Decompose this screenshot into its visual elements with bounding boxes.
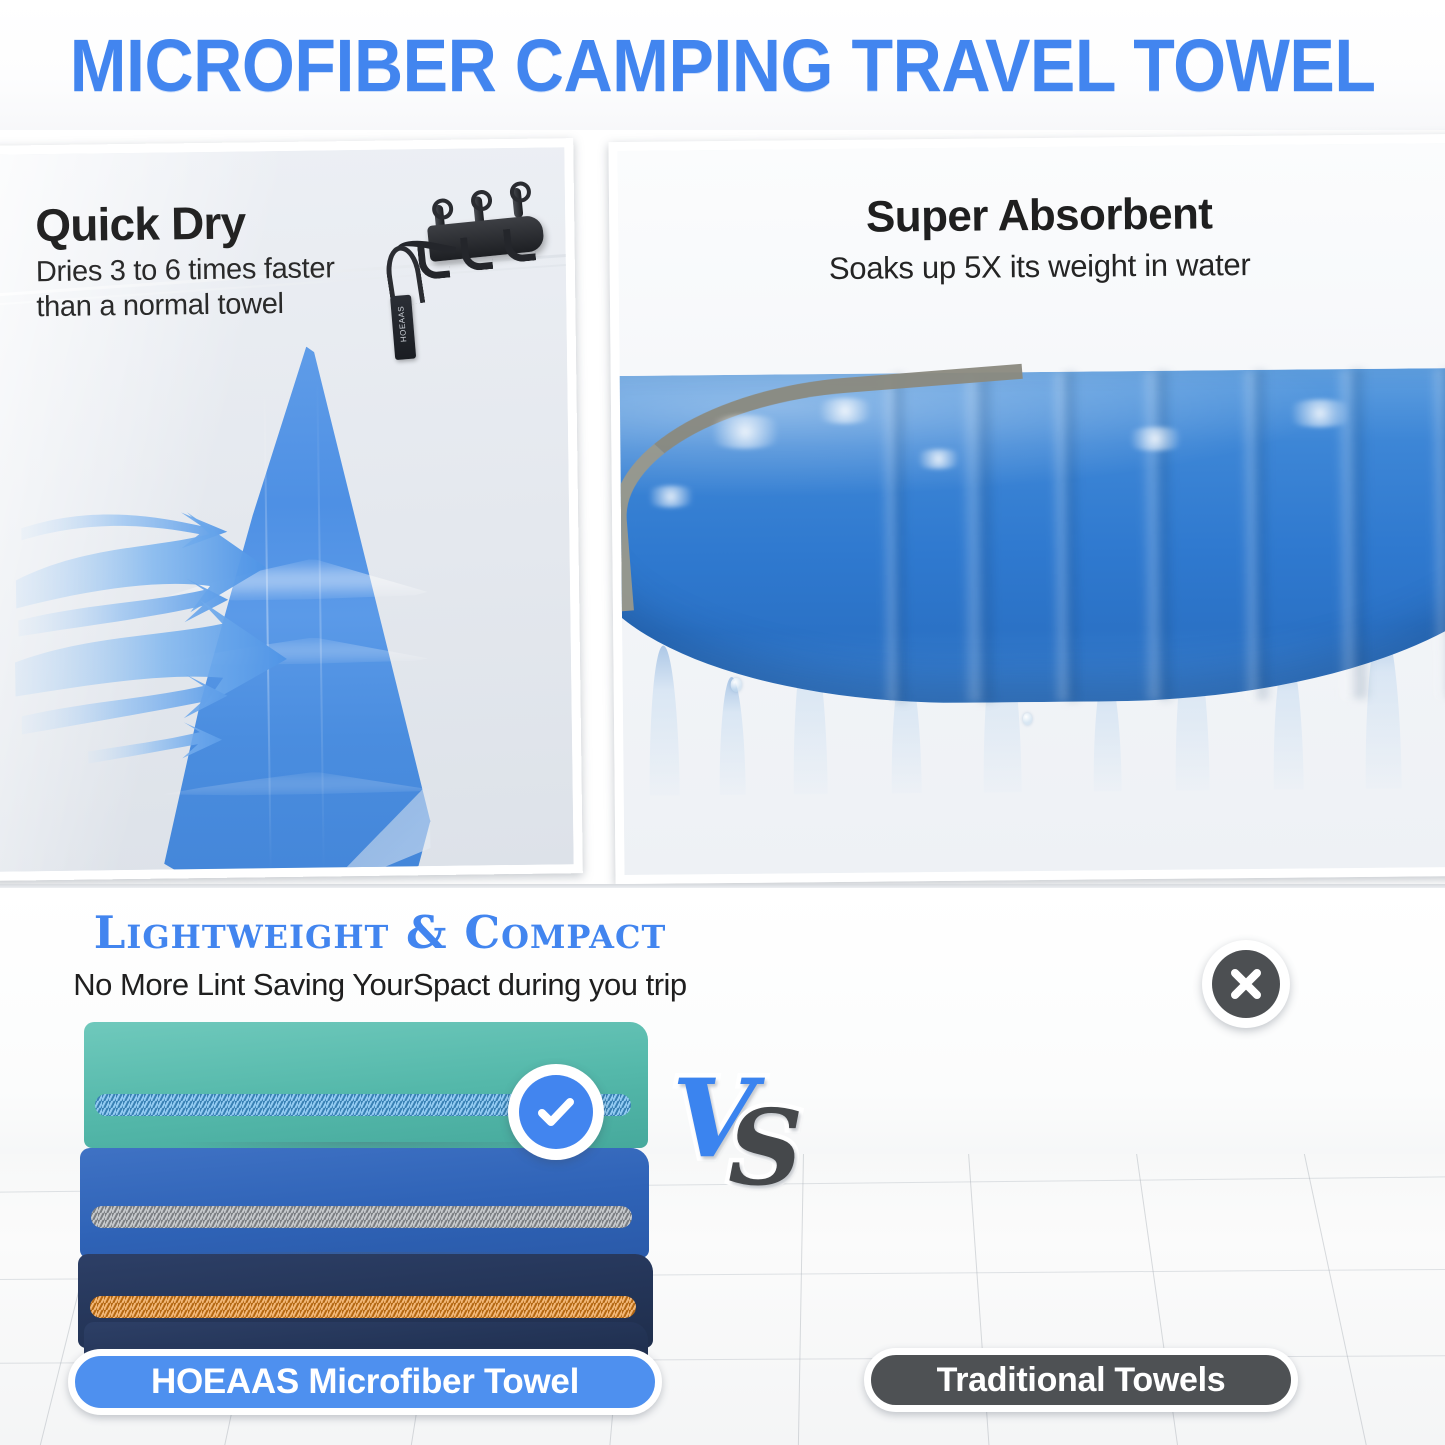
traditional-label-pill: Traditional Towels — [864, 1348, 1298, 1412]
quick-dry-subtitle-line-2: than a normal towel — [36, 287, 335, 326]
quick-dry-text-block: Quick Dry Dries 3 to 6 times faster than… — [35, 198, 335, 326]
ours-label-text: HOEAAS Microfiber Towel — [151, 1362, 579, 1402]
panel-quick-dry: Quick Dry Dries 3 to 6 times faster than… — [0, 138, 583, 881]
gray-mesh-trim — [91, 1206, 632, 1228]
super-absorbent-heading: Super Absorbent — [618, 187, 1445, 245]
royal-blue-towel — [80, 1148, 649, 1258]
page-title: MICROFIBER CAMPING TRAVEL TOWEL — [70, 23, 1376, 108]
quick-dry-heading: Quick Dry — [35, 198, 334, 249]
orange-mesh-trim — [90, 1296, 636, 1318]
lightweight-subtitle: No More Lint Saving YourSpact during you… — [50, 967, 710, 1003]
vs-letter-s: S — [728, 1086, 803, 1209]
check-circle-icon — [508, 1064, 604, 1160]
panel-super-absorbent: Super Absorbent Soaks up 5X its weight i… — [608, 134, 1445, 884]
x-circle-icon — [1202, 940, 1290, 1028]
hook-curve-icon — [460, 235, 493, 272]
list-item — [80, 1148, 649, 1258]
ours-label-pill: HOEAAS Microfiber Towel — [68, 1349, 662, 1415]
traditional-label-text: Traditional Towels — [937, 1361, 1226, 1400]
title-bar: MICROFIBER CAMPING TRAVEL TOWEL — [0, 0, 1445, 130]
wet-blue-towel — [608, 367, 1445, 706]
vs-badge: V S — [676, 1062, 806, 1207]
wall-hook-rack-icon — [398, 181, 580, 313]
brand-tag-label: HOEAAS — [396, 301, 409, 348]
airflow-arrows-icon — [13, 480, 367, 785]
super-absorbent-text-block: Super Absorbent Soaks up 5X its weight i… — [618, 187, 1445, 289]
quick-dry-subtitle-line-1: Dries 3 to 6 times faster — [36, 251, 335, 290]
lightweight-heading: Lightweight & Compact — [50, 906, 710, 959]
hook-top-icon — [512, 188, 524, 219]
hook-curve-icon — [503, 226, 536, 263]
lightweight-text-block: Lightweight & Compact No More Lint Savin… — [50, 906, 710, 1003]
